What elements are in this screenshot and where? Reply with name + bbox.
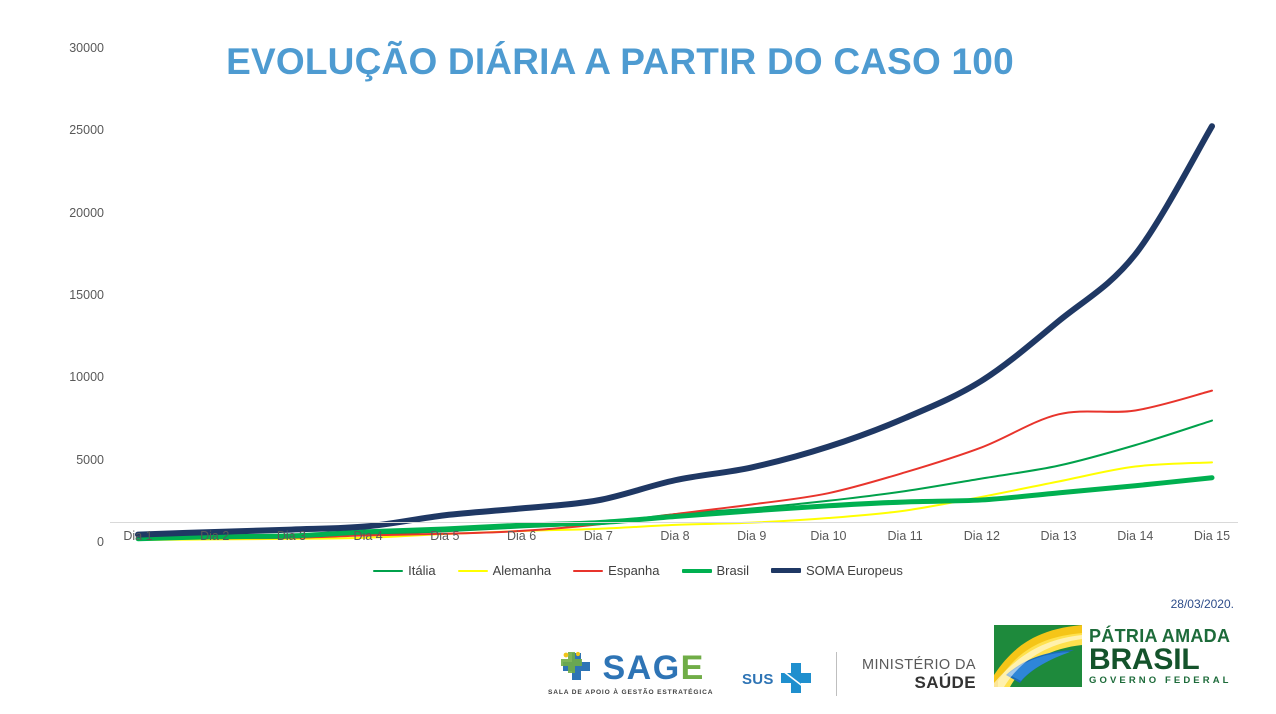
sus-logo: SUS: [742, 660, 815, 698]
brasil-government-logo: PÁTRIA AMADA BRASIL GOVERNO FEDERAL: [994, 625, 1232, 687]
series-lines: [110, 48, 1240, 542]
legend-label: Brasil: [717, 563, 750, 578]
ministry-of-health-logo: MINISTÉRIO DA SAÚDE: [862, 657, 976, 692]
legend-label: Espanha: [608, 563, 659, 578]
y-axis-tick-label: 20000: [69, 206, 104, 220]
sage-logo: S A G E SALA DE APOIO À GESTÃO ESTRATÉGI…: [548, 650, 713, 696]
sage-letter-g: G: [653, 651, 679, 685]
y-axis-tick-label: 5000: [76, 453, 104, 467]
x-axis-tick-label: Dia 1: [123, 529, 152, 543]
chart-legend: ItáliaAlemanhaEspanhaBrasilSOMA Europeus: [0, 563, 1276, 578]
y-axis-tick-label: 0: [97, 535, 104, 549]
legend-color-swatch: [771, 568, 801, 573]
ministry-line-2: SAÚDE: [862, 673, 976, 692]
x-axis-tick-label: Dia 8: [660, 529, 689, 543]
legend-color-swatch: [458, 570, 488, 572]
x-axis-tick-label: Dia 11: [888, 529, 923, 543]
sage-letter-s: S: [602, 651, 624, 685]
y-axis-tick-label: 10000: [69, 370, 104, 384]
brasil-line-3: GOVERNO FEDERAL: [1089, 676, 1232, 686]
x-axis-tick-label: Dia 13: [1040, 529, 1076, 543]
plot-area: [110, 48, 1240, 542]
brasil-flag-icon: [994, 625, 1082, 687]
x-axis-labels: Dia 1Dia 2Dia 3Dia 4Dia 5Dia 6Dia 7Dia 8…: [110, 529, 1238, 551]
brasil-line-2: BRASIL: [1089, 645, 1232, 676]
ministry-line-1: MINISTÉRIO DA: [862, 657, 976, 673]
x-axis-tick-label: Dia 14: [1117, 529, 1153, 543]
x-axis-tick-label: Dia 7: [584, 529, 613, 543]
sage-wordmark: S A G E: [558, 650, 702, 686]
y-axis-labels: 050001000015000200002500030000: [0, 48, 104, 542]
legend-label: Alemanha: [493, 563, 552, 578]
legend-item[interactable]: Espanha: [573, 563, 659, 578]
legend-item[interactable]: SOMA Europeus: [771, 563, 903, 578]
x-axis-tick-label: Dia 2: [200, 529, 229, 543]
slide-root: EVOLUÇÃO DIÁRIA A PARTIR DO CASO 100 050…: [0, 0, 1276, 714]
sage-letter-e: E: [681, 651, 703, 685]
sus-label: SUS: [742, 671, 774, 688]
sage-letter-a: A: [627, 651, 651, 685]
y-axis-tick-label: 15000: [69, 288, 104, 302]
y-axis-tick-label: 30000: [69, 41, 104, 55]
legend-label: Itália: [408, 563, 435, 578]
line-chart: 050001000015000200002500030000: [0, 30, 1276, 540]
legend-item[interactable]: Alemanha: [458, 563, 552, 578]
brasil-wordmark: PÁTRIA AMADA BRASIL GOVERNO FEDERAL: [1089, 627, 1232, 685]
legend-item[interactable]: Brasil: [682, 563, 750, 578]
x-axis-tick-label: Dia 6: [507, 529, 536, 543]
legend-item[interactable]: Itália: [373, 563, 435, 578]
date-annotation: 28/03/2020.: [1171, 597, 1234, 611]
x-axis-line: [110, 522, 1238, 523]
y-axis-tick-label: 25000: [69, 123, 104, 137]
x-axis-tick-label: Dia 5: [430, 529, 459, 543]
x-axis-tick-label: Dia 3: [277, 529, 306, 543]
sage-tagline: SALA DE APOIO À GESTÃO ESTRATÉGICA: [548, 689, 713, 696]
legend-color-swatch: [682, 569, 712, 573]
legend-color-swatch: [573, 570, 603, 572]
footer-divider: [836, 652, 837, 696]
x-axis-tick-label: Dia 4: [354, 529, 383, 543]
sus-cross-icon: [777, 660, 815, 698]
x-axis-tick-label: Dia 12: [964, 529, 1000, 543]
sage-cross-icon: [558, 650, 600, 686]
x-axis-tick-label: Dia 9: [737, 529, 766, 543]
x-axis-tick-label: Dia 10: [810, 529, 846, 543]
legend-color-swatch: [373, 570, 403, 572]
x-axis-tick-label: Dia 15: [1194, 529, 1230, 543]
series-line: [138, 126, 1212, 534]
legend-label: SOMA Europeus: [806, 563, 903, 578]
